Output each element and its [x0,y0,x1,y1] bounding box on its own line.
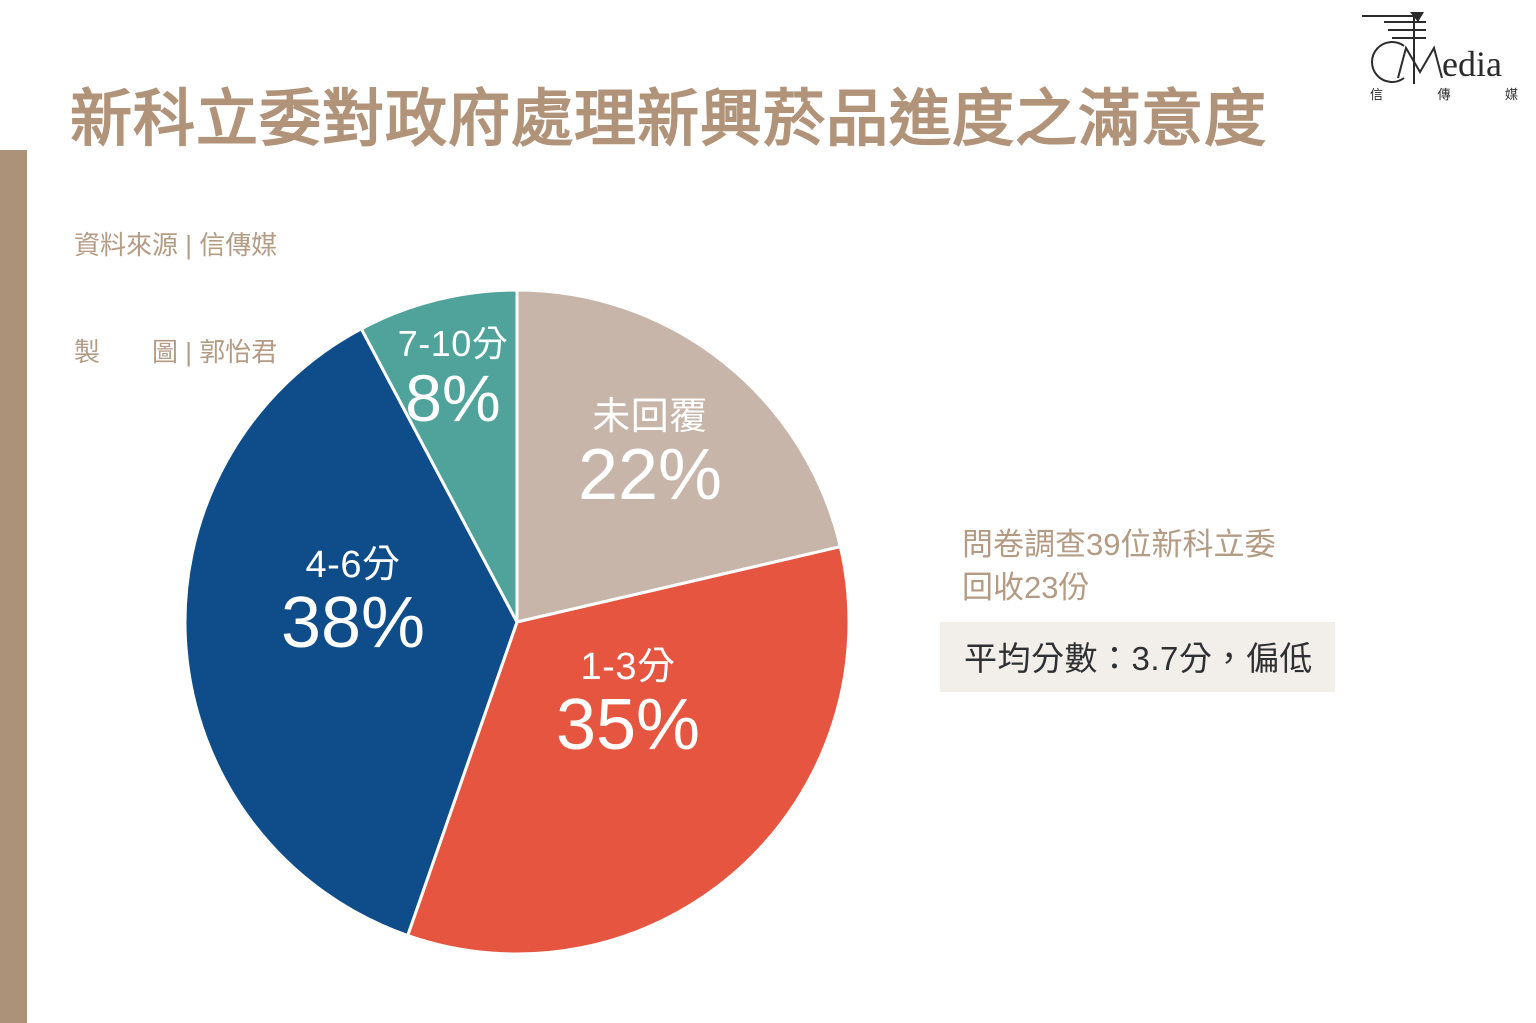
average-score-callout: 平均分數：3.7分，偏低 [940,622,1335,692]
pie-chart: 未回覆 22% 1-3分 35% 4-6分 38% 7-10分 8% [183,288,851,956]
logo-sub-char-1: 信 [1370,84,1383,103]
page-title: 新科立委對政府處理新興菸品進度之滿意度 [70,87,1267,152]
svg-text:edia: edia [1442,44,1502,84]
survey-note-line-2: 回收23份 [962,567,1382,610]
cmedia-logo: edia 信 傳 媒 [1348,6,1518,114]
credit-source: 資料來源 | 信傳媒 [74,228,277,264]
survey-note-line-1: 問卷調查39位新科立委 [962,524,1382,567]
logo-sub-char-2: 傳 [1437,84,1450,103]
logo-subtitle: 信 傳 媒 [1370,84,1518,103]
left-accent-bar [0,150,27,1023]
survey-note: 問卷調查39位新科立委 回收23份 [962,524,1382,610]
logo-sub-char-3: 媒 [1505,84,1518,103]
